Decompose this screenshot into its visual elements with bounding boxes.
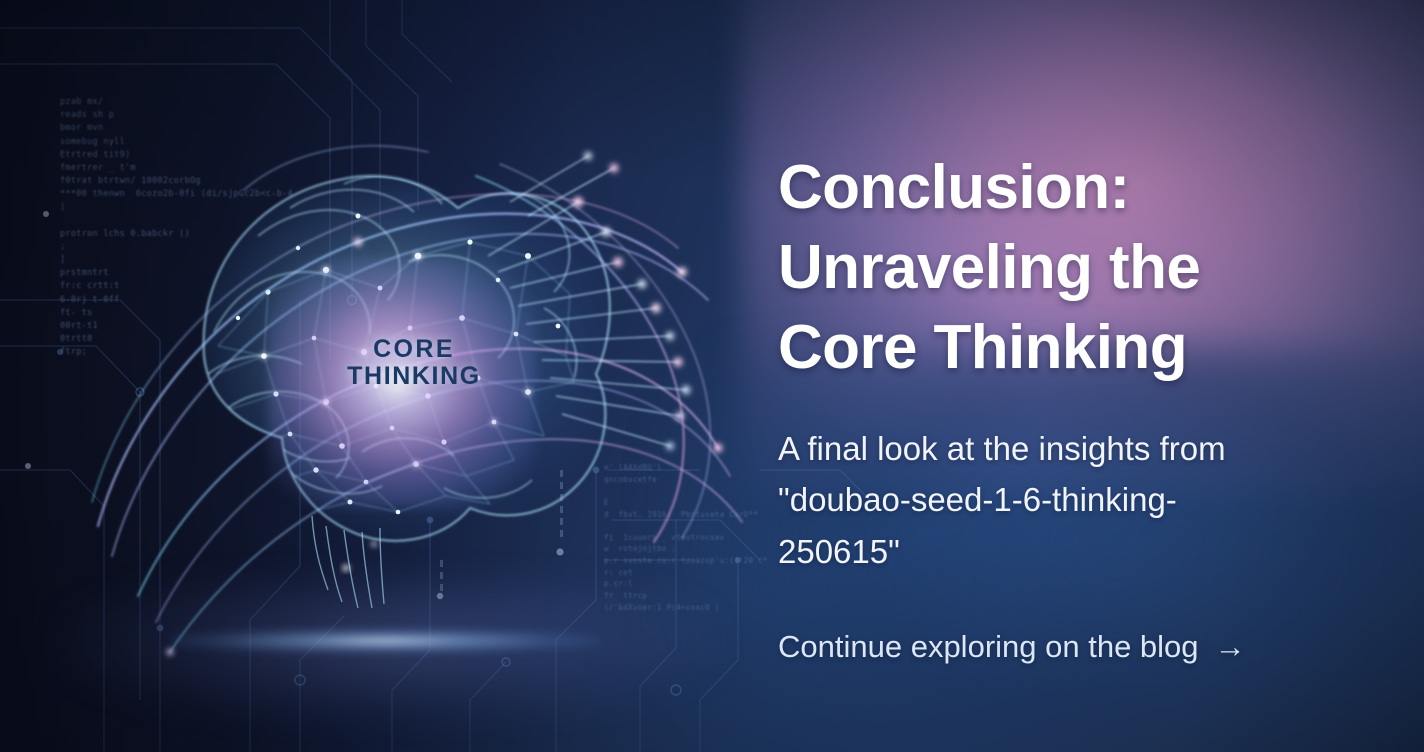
headline-line-1: Conclusion: [778,148,1338,228]
page-subtitle: A final look at the insights from "douba… [778,423,1333,577]
text-panel: Conclusion: Unraveling the Core Thinking… [778,0,1398,752]
subtitle-line-2: "doubao-seed-1-6-thinking- [778,474,1333,525]
headline-line-2: Unraveling the [778,228,1338,308]
subtitle-line-3: 250615" [778,526,1333,577]
arrow-right-icon: → [1215,631,1246,662]
continue-exploring-link[interactable]: Continue exploring on the blog → [778,628,1246,665]
page-title: Conclusion: Unraveling the Core Thinking [778,148,1338,388]
hero-banner: pzab mx/ reads sh p bmor mvn somebug nyl… [0,0,1424,752]
subtitle-line-1: A final look at the insights from [778,423,1333,474]
headline-line-3: Core Thinking [778,308,1338,388]
cta-label: Continue exploring on the blog [778,628,1199,665]
